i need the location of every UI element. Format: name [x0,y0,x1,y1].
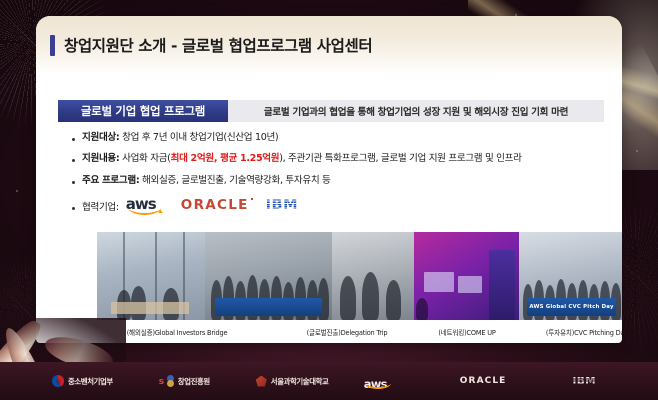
photo-strip: AWS Global CVC Pitch Day [97,232,622,320]
title-text: 창업지원단 소개 - 글로벌 협업프로그램 사업센터 [64,34,372,56]
org-label: 창업진흥원 [178,376,210,387]
photo-global-investors-bridge [97,232,205,320]
bullet-label: 지원대상: [82,132,119,143]
list-item: 주요 프로그램: 해외실증, 글로벌진출, 기술역량강화, 투자유치 등 [72,175,612,187]
page-title: 창업지원단 소개 - 글로벌 협업프로그램 사업센터 [50,34,372,56]
org-label: 서울과학기술대학교 [271,376,329,387]
seoultech-logo-icon [256,376,267,387]
bullet-label: 협력기업: [82,197,119,214]
bullet-text: 지원대상: 창업 후 7년 이내 창업기업(신산업 10년) [82,132,278,144]
section-badge: 글로벌 기업 협업 프로그램 [58,100,228,122]
photo-come-up [332,232,414,320]
photo-cvc-pitching-day: AWS Global CVC Pitch Day [519,232,622,320]
bullet-text: 주요 프로그램: 해외실증, 글로벌진출, 기술역량강화, 투자유치 등 [82,175,330,187]
caption-cvc-pitching-day: (투자유치)CVC Pitching Day [507,327,622,337]
bullet-list: 지원대상: 창업 후 7년 이내 창업기업(신산업 10년) 지원내용: 사업화… [72,132,612,225]
aws-smile-icon [128,206,161,215]
bullet-dot-icon [72,138,75,141]
korea-gov-emblem-icon [52,375,64,387]
bullet-label: 지원내용: [82,153,119,164]
org-label: 중소벤처기업부 [68,376,113,387]
bullet-dot-icon [72,181,75,184]
bullet-body-after: ), 주관기관 특화프로그램, 글로벌 기업 지원 프로그램 및 인프라 [279,153,521,164]
photo-delegation-trip [205,232,332,320]
oracle-logo-icon: ORACLE [460,376,507,386]
aws-logo-icon: aws [126,194,164,215]
org-mss: 중소벤처기업부 [52,375,113,387]
photo-banner [215,298,322,316]
presentation-slide: 창업지원단 소개 - 글로벌 협업프로그램 사업센터 글로벌 기업 협업 프로그… [0,0,658,400]
section-header: 글로벌 기업 협업 프로그램 글로벌 기업과의 협업을 통해 창업기업의 성장 … [58,100,604,122]
footer-sponsors: aws ORACLE IBM [364,373,596,389]
caption-global-investors-bridge: (해외실증)Global Investors Bridge [87,327,267,337]
title-accent-bar [50,35,55,56]
bullet-body-before: 사업화 자금( [119,153,170,164]
list-item-partners: 협력기업: aws ORACLE IBM [72,196,612,215]
photo-figures [332,272,414,320]
ibm-logo-icon: IBM [266,197,298,213]
bullet-label: 주요 프로그램: [82,175,139,186]
photo-banner: AWS Global CVC Pitch Day [527,298,615,316]
org-kised: s 창업진흥원 [159,375,210,387]
aws-logo-icon: aws [364,373,394,389]
section-description: 글로벌 기업과의 협업을 통해 창업기업의 성장 지원 및 해외시장 진입 기회… [228,100,604,122]
photo-figures [414,294,519,320]
content-card: 창업지원단 소개 - 글로벌 협업프로그램 사업센터 글로벌 기업 협업 프로그… [36,16,622,343]
bullet-body: 해외실증, 글로벌진출, 기술역량강화, 투자유치 등 [139,175,330,186]
bullet-dot-icon [72,159,75,162]
ibm-logo-icon: IBM [572,375,596,387]
kised-logo-icon: s [159,375,174,387]
highlighted-funding-amount: 최대 2억원, 평균 1.25억원 [171,153,280,164]
partner-logo-row: aws ORACLE IBM [126,194,298,215]
bullet-text: 지원내용: 사업화 자금(최대 2억원, 평균 1.25억원), 주관기관 특화… [82,153,522,165]
list-item: 지원대상: 창업 후 7년 이내 창업기업(신산업 10년) [72,132,612,144]
footer-bar: 중소벤처기업부 s 창업진흥원 서울과학기술대학교 aws ORACLE IBM [0,362,658,400]
list-item: 지원내용: 사업화 자금(최대 2억원, 평균 1.25억원), 주관기관 특화… [72,153,612,165]
org-seoultech: 서울과학기술대학교 [256,376,329,387]
oracle-logo-icon: ORACLE [181,197,249,213]
bullet-dot-icon [72,207,75,210]
bullet-body: 창업 후 7년 이내 창업기업(신산업 10년) [119,132,278,143]
footer-organizations: 중소벤처기업부 s 창업진흥원 서울과학기술대학교 [52,375,328,387]
photo-expo [414,232,519,320]
photo-captions: (해외실증)Global Investors Bridge (글로벌진출)Del… [97,327,622,341]
